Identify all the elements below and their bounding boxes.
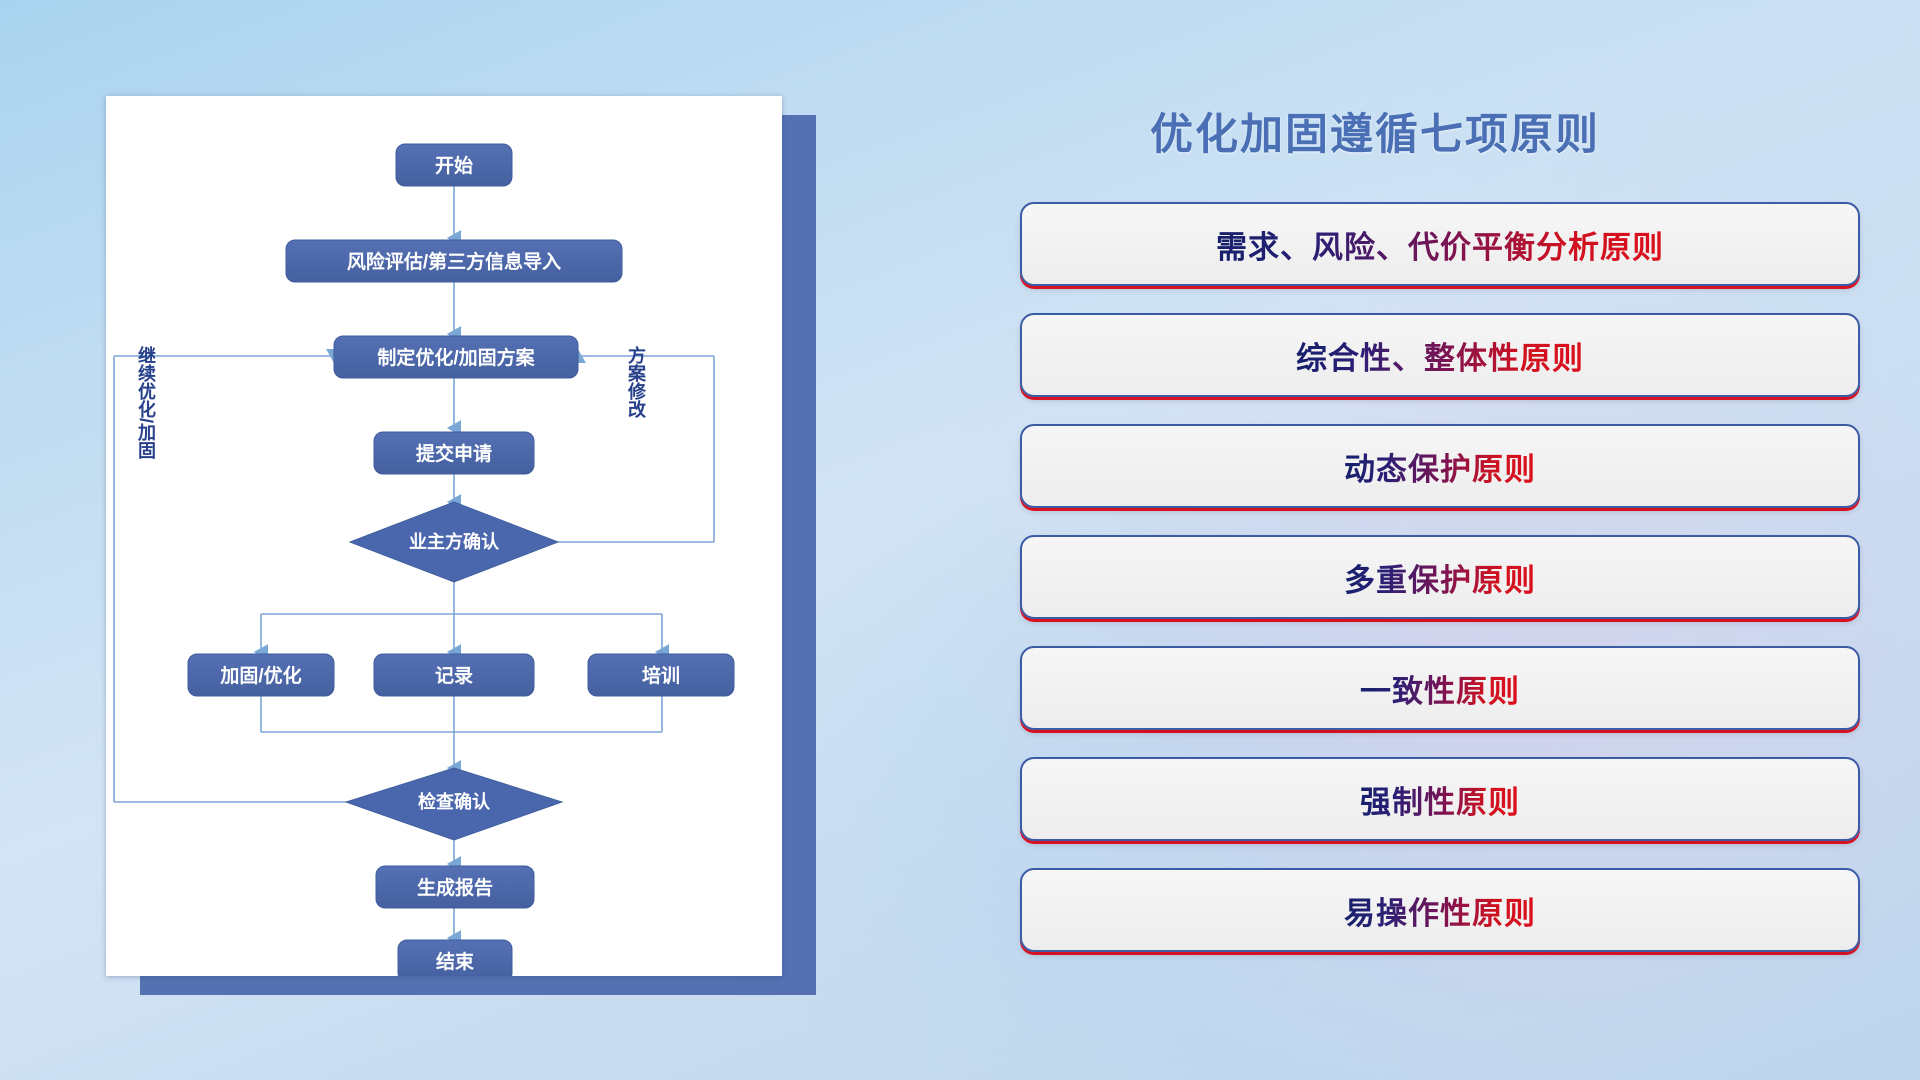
flowchart-diagram: 继续优化/加固 方案修改 开始 风险评估/第三方信息导入 制定优化/加固方案 (106, 96, 782, 976)
principle-card-5[interactable]: 一致性原则 (1020, 646, 1860, 730)
flow-node-submit-label: 提交申请 (416, 442, 492, 465)
principle-card-7[interactable]: 易操作性原则 (1020, 868, 1860, 952)
principle-label-1: 需求、风险、代价平衡分析原则 (1216, 222, 1664, 267)
flow-edge-label-right: 方案修改 (626, 345, 647, 419)
principle-card-6[interactable]: 强制性原则 (1020, 757, 1860, 841)
principle-card-2[interactable]: 综合性、整体性原则 (1020, 313, 1860, 397)
edge-label-left-text: 继续优化/加固 (136, 345, 157, 460)
flow-node-record[interactable]: 记录 (374, 654, 534, 696)
flow-node-risk[interactable]: 风险评估/第三方信息导入 (286, 240, 622, 282)
flow-node-risk-label: 风险评估/第三方信息导入 (347, 250, 561, 273)
flow-node-end-label: 结束 (436, 950, 475, 973)
flow-node-plan-label: 制定优化/加固方案 (377, 346, 535, 369)
flow-node-reinforce[interactable]: 加固/优化 (188, 654, 334, 696)
flow-node-check-label: 检查确认 (418, 791, 491, 812)
flow-node-start-label: 开始 (435, 154, 473, 177)
principle-card-1[interactable]: 需求、风险、代价平衡分析原则 (1020, 202, 1860, 286)
principle-card-3[interactable]: 动态保护原则 (1020, 424, 1860, 508)
flow-node-record-label: 记录 (435, 665, 473, 687)
principle-label-2: 综合性、整体性原则 (1296, 333, 1584, 378)
flow-node-training[interactable]: 培训 (588, 654, 734, 696)
principles-title: 优化加固遵循七项原则 (1150, 100, 1860, 162)
flow-node-training-label: 培训 (642, 664, 680, 687)
slide-root: 继续优化/加固 方案修改 开始 风险评估/第三方信息导入 制定优化/加固方案 (0, 0, 1920, 1080)
flow-node-end[interactable]: 结束 (398, 940, 512, 976)
flow-edge-label-left: 继续优化/加固 (136, 345, 157, 460)
flow-node-owner-confirm[interactable]: 业主方确认 (350, 502, 558, 582)
principle-label-3: 动态保护原则 (1344, 444, 1536, 489)
principles-panel: 优化加固遵循七项原则 需求、风险、代价平衡分析原则 综合性、整体性原则 动态保护… (1020, 100, 1860, 979)
principle-label-5: 一致性原则 (1360, 666, 1520, 711)
principle-card-4[interactable]: 多重保护原则 (1020, 535, 1860, 619)
edge-label-right-text: 方案修改 (626, 345, 647, 419)
principle-label-7: 易操作性原则 (1344, 888, 1536, 933)
principle-label-4: 多重保护原则 (1344, 555, 1536, 600)
flow-node-report-label: 生成报告 (417, 876, 493, 899)
flow-node-check[interactable]: 检查确认 (346, 768, 562, 840)
flow-node-submit[interactable]: 提交申请 (374, 432, 534, 474)
flow-node-plan[interactable]: 制定优化/加固方案 (334, 336, 578, 378)
flowchart-card: 继续优化/加固 方案修改 开始 风险评估/第三方信息导入 制定优化/加固方案 (106, 96, 782, 976)
flow-node-owner-confirm-label: 业主方确认 (409, 531, 500, 552)
flow-node-reinforce-label: 加固/优化 (219, 664, 301, 687)
flow-node-start[interactable]: 开始 (396, 144, 512, 186)
flow-node-report[interactable]: 生成报告 (376, 866, 534, 908)
principle-label-6: 强制性原则 (1360, 777, 1520, 822)
